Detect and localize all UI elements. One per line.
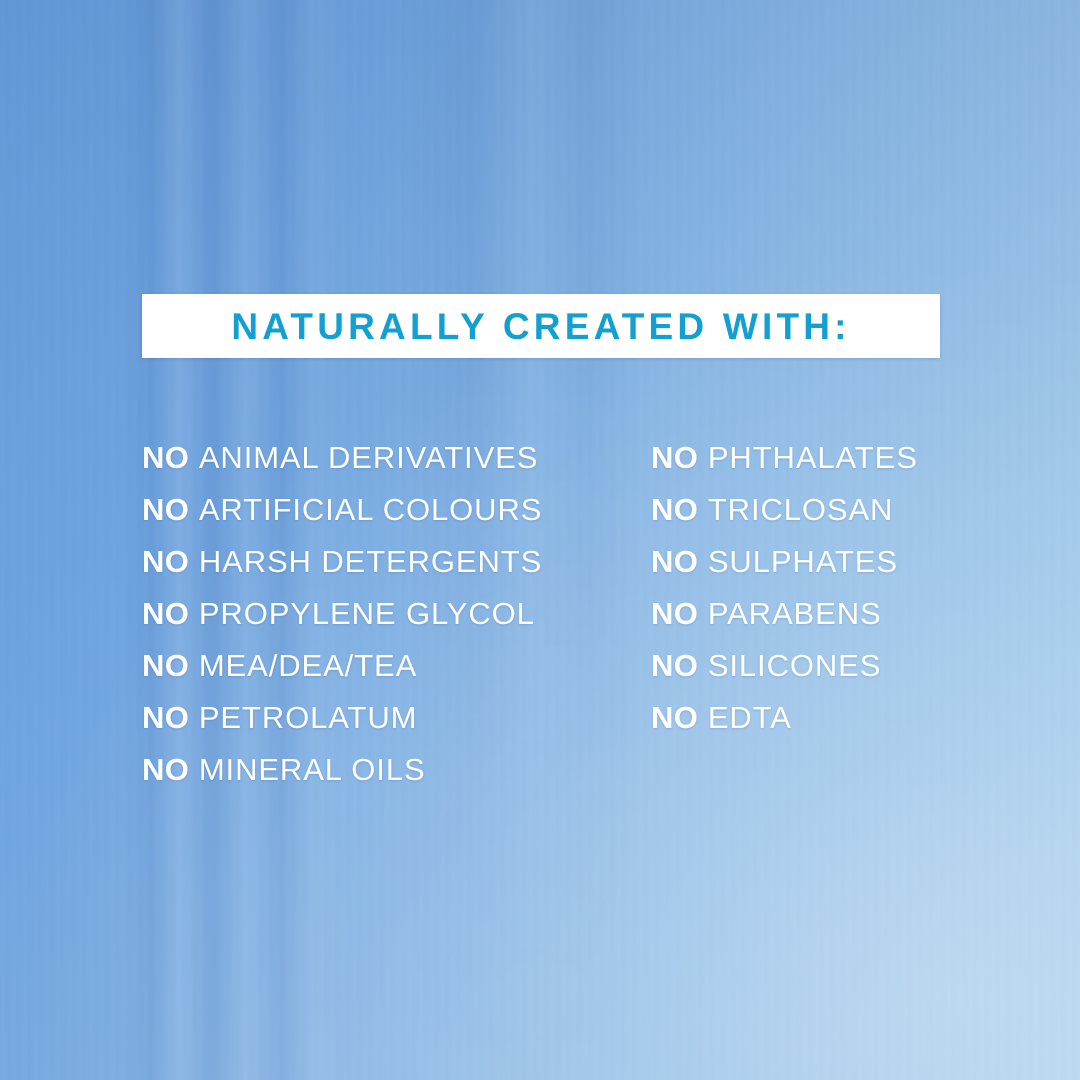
no-prefix: NO: [142, 752, 189, 787]
no-prefix: NO: [142, 648, 189, 683]
list-column-right: NO PHTHALATES NO TRICLOSAN NO SULPHATES …: [651, 432, 918, 744]
item-label: PHTHALATES: [708, 440, 918, 475]
no-prefix: NO: [142, 440, 189, 475]
no-prefix: NO: [142, 596, 189, 631]
list-item: NO MINERAL OILS: [142, 744, 542, 796]
headline-banner: NATURALLY CREATED WITH:: [142, 294, 940, 358]
promo-graphic: NATURALLY CREATED WITH: NO ANIMAL DERIVA…: [0, 0, 1080, 1080]
item-label: PROPYLENE GLYCOL: [199, 596, 535, 631]
no-prefix: NO: [142, 492, 189, 527]
item-label: ARTIFICIAL COLOURS: [199, 492, 543, 527]
no-prefix: NO: [142, 544, 189, 579]
no-prefix: NO: [651, 544, 698, 579]
item-label: EDTA: [708, 700, 792, 735]
item-label: TRICLOSAN: [708, 492, 894, 527]
no-prefix: NO: [651, 440, 698, 475]
list-column-left: NO ANIMAL DERIVATIVES NO ARTIFICIAL COLO…: [142, 432, 542, 796]
no-prefix: NO: [651, 596, 698, 631]
no-prefix: NO: [651, 700, 698, 735]
item-label: ANIMAL DERIVATIVES: [199, 440, 538, 475]
no-prefix: NO: [651, 492, 698, 527]
item-label: HARSH DETERGENTS: [199, 544, 542, 579]
list-item: NO MEA/DEA/TEA: [142, 640, 542, 692]
item-label: MEA/DEA/TEA: [199, 648, 417, 683]
no-prefix: NO: [651, 648, 698, 683]
list-item: NO PARABENS: [651, 588, 918, 640]
list-item: NO ARTIFICIAL COLOURS: [142, 484, 542, 536]
item-label: PETROLATUM: [199, 700, 418, 735]
item-label: PARABENS: [708, 596, 882, 631]
item-label: MINERAL OILS: [199, 752, 426, 787]
list-item: NO HARSH DETERGENTS: [142, 536, 542, 588]
item-label: SILICONES: [708, 648, 881, 683]
list-item: NO TRICLOSAN: [651, 484, 918, 536]
item-label: SULPHATES: [708, 544, 898, 579]
list-item: NO EDTA: [651, 692, 918, 744]
list-item: NO SILICONES: [651, 640, 918, 692]
list-item: NO PHTHALATES: [651, 432, 918, 484]
headline-title: NATURALLY CREATED WITH:: [231, 308, 850, 345]
list-item: NO PETROLATUM: [142, 692, 542, 744]
list-item: NO PROPYLENE GLYCOL: [142, 588, 542, 640]
no-prefix: NO: [142, 700, 189, 735]
list-item: NO SULPHATES: [651, 536, 918, 588]
list-item: NO ANIMAL DERIVATIVES: [142, 432, 542, 484]
